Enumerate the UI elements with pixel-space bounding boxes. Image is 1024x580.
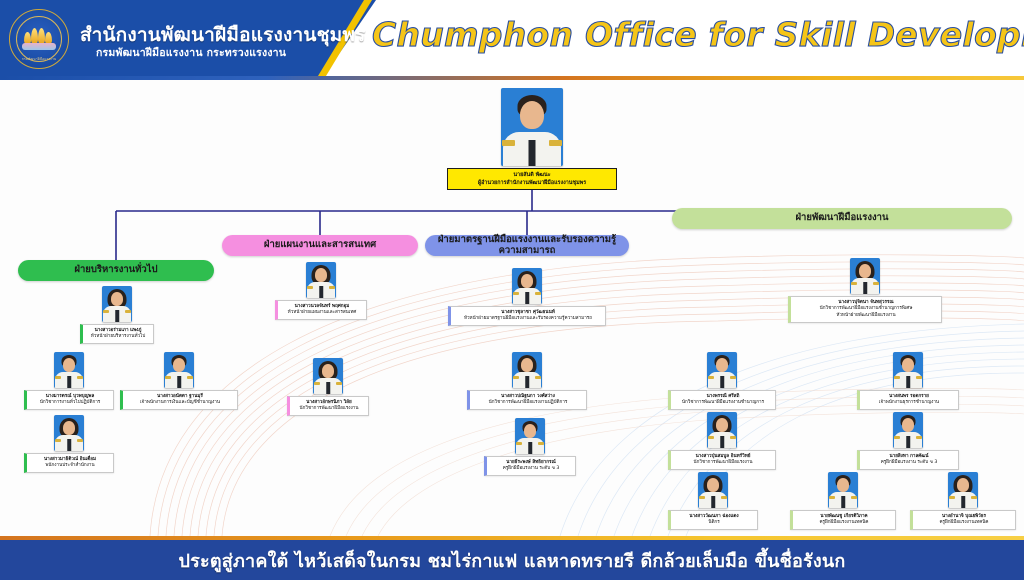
person-position-2: หัวหน้าฝ่ายพัฒนาฝีมือแรงงาน [794, 313, 938, 320]
person-node[interactable]: นางสาวชุลาชา ศุวัฒธนนท์ หัวหน้าฝ่ายมาตรฐ… [448, 268, 606, 326]
person-photo [948, 472, 978, 508]
director-node[interactable] [497, 88, 567, 166]
person-label: นางสาวอนัตตา ฐานมุรี เจ้าพนักงานการเงินแ… [120, 390, 238, 410]
person-photo [707, 412, 737, 448]
page-title-en: Chumphon Office for Skill Development [372, 15, 1022, 54]
person-label: นางมารตรณ์ บุวพบุญพล นักวิชาการงานทั่วไป… [24, 390, 114, 410]
dept-header-development[interactable]: ฝ่ายพัฒนาฝีมือแรงงาน [672, 208, 1012, 229]
person-label: นายธีระพงษ์ สิทธิยากรณ์ ครูฝึกฝีมือแรงงา… [484, 456, 576, 476]
person-label: นางสาวนวลจันทร์ พฤศกอุม หัวหน้าฝ่ายแผนงา… [275, 300, 367, 320]
person-position: หัวหน้าฝ่ายบริหารงานทั่วไป [86, 334, 150, 341]
person-node[interactable]: นางสาวมาธิติวณ์ อินเตื่อม พนักงานประจำสำ… [24, 415, 114, 473]
director-label: นายสันติ พัฒนะ ผู้อำนวยการสำนักงานพัฒนาฝ… [447, 168, 617, 190]
person-label: นายสิงหา กาลศัฒน์ ครูฝึกฝีมือแรงงาน ระดั… [857, 450, 959, 470]
person-node[interactable]: นางสนพร รอดกราย เจ้าพนักงานธุรการชำนาญงา… [857, 352, 959, 410]
person-photo [512, 352, 542, 388]
person-label: นางอำนาจิ บุณยพิวัธร ครูฝึกฝีมือแรงงานเท… [910, 510, 1016, 530]
director-photo [501, 88, 563, 166]
person-photo [54, 352, 84, 388]
person-photo [512, 268, 542, 304]
person-photo [893, 412, 923, 448]
person-node[interactable]: นางสาววัฒนภา ฉ่องแดง นิติกร [668, 472, 758, 530]
director-name: นายสันติ พัฒนะ [513, 172, 550, 178]
person-position: นิติกร [674, 520, 754, 527]
person-photo [102, 286, 132, 322]
person-position: นักวิชาการพัฒนาฝีมือแรงงานปฏิบัติการ [473, 400, 583, 407]
person-label: นางสาววัฒนภา ฉ่องแดง นิติกร [668, 510, 758, 530]
person-position: พนักงานประจำสำนักงาน [30, 463, 110, 470]
person-photo [515, 418, 545, 454]
person-position: นักวิชาการงานทั่วไปปฏิบัติการ [30, 400, 110, 407]
person-position: ครูฝึกฝีมือแรงงาน ระดับ ฃ 3 [490, 466, 572, 473]
director-position: ผู้อำนวยการสำนักงานพัฒนาฝีมือแรงงานชุมพร [478, 180, 586, 186]
logo-ribbon-text: กรมพัฒนาฝีมือแรงงาน [14, 57, 64, 65]
person-photo [313, 358, 343, 394]
footer-slogan: ประตูสู่ภาคใต้ ไหว้เสด็จในกรม ชมไร่กาแฟ … [179, 546, 846, 575]
org-chart-page: กรมพัฒนาฝีมือแรงงาน สำนักงานพัฒนาฝีมือแร… [0, 0, 1024, 580]
person-label: นางสาวปุจิตนา จันทสุวรรณ นักวิชาการพัฒนา… [788, 296, 942, 323]
person-photo [306, 262, 336, 298]
person-label: นางสาวอร่ามเภา แพงภู่ หัวหน้าฝ่ายบริหารง… [80, 324, 154, 344]
person-node[interactable]: นางสาวปุจิตนา จันทสุวรรณ นักวิชาการพัฒนา… [788, 258, 942, 323]
person-position: หัวหน้าฝ่ายแผนงานและสารสนเทศ [281, 310, 363, 317]
person-photo [54, 415, 84, 451]
person-label: นางสาวอักษรนิภา วิลัย นักวิชาการพัฒนาฝีม… [287, 396, 369, 416]
person-node[interactable]: นางสาวอักษรนิภา วิลัย นักวิชาการพัฒนาฝีม… [287, 358, 369, 416]
page-header: กรมพัฒนาฝีมือแรงงาน สำนักงานพัฒนาฝีมือแร… [0, 0, 1024, 76]
dept-header-standard[interactable]: ฝ่ายมาตรฐานฝีมือแรงงานและรับรองความรู้คว… [425, 235, 629, 256]
dept-header-admin[interactable]: ฝ่ายบริหารงานทั่วไป [18, 260, 214, 281]
person-photo [828, 472, 858, 508]
person-position: เจ้าพนักงานการเงินและบัญชีชำนาญงาน [126, 400, 234, 407]
person-node[interactable]: นางอำนาจิ บุณยพิวัธร ครูฝึกฝีมือแรงงานเท… [910, 472, 1016, 530]
person-position: นักวิชาการพัฒนาฝีมือแรงงานชำนาญการพิเศษ [794, 306, 938, 313]
person-label: นางสนพร รอดกราย เจ้าพนักงานธุรการชำนาญงา… [857, 390, 959, 410]
person-photo [164, 352, 194, 388]
person-node[interactable]: นายพัฒนชู เกียรติวิภาค ครูฝึกฝีมือแรงงาน… [790, 472, 896, 530]
person-node[interactable]: นางสาวนวลจันทร์ พฤศกอุม หัวหน้าฝ่ายแผนงา… [275, 262, 367, 320]
page-footer: ประตูสู่ภาคใต้ ไหว้เสด็จในกรม ชมไร่กาแฟ … [0, 540, 1024, 580]
person-label: นายพัฒนชู เกียรติวิภาค ครูฝึกฝีมือแรงงาน… [790, 510, 896, 530]
person-node[interactable]: นายสิงหา กาลศัฒน์ ครูฝึกฝีมือแรงงาน ระดั… [857, 412, 959, 470]
person-photo [698, 472, 728, 508]
person-node[interactable]: นางสาวอนัตตา ฐานมุรี เจ้าพนักงานการเงินแ… [120, 352, 238, 410]
person-node[interactable]: นางสาวอร่ามเภา แพงภู่ หัวหน้าฝ่ายบริหารง… [80, 286, 154, 344]
person-position: ครูฝึกฝีมือแรงงานเทคนิค [796, 520, 892, 527]
person-position: หัวหน้าฝ่ายมาตรฐานฝีมือแรงงานและรับรองคว… [454, 316, 602, 323]
dept-header-plan[interactable]: ฝ่ายแผนงานและสารสนเทศ [222, 235, 418, 256]
person-node[interactable]: นางมารตรณ์ บุวพบุญพล นักวิชาการงานทั่วไป… [24, 352, 114, 410]
person-photo [893, 352, 923, 388]
person-photo [850, 258, 880, 294]
person-photo [707, 352, 737, 388]
person-node[interactable]: นางพรรณี ศรีสถิ นักวิชาการพัฒนาฝีมือแรงง… [668, 352, 776, 410]
person-position: นักวิชาการพัฒนาฝีมือแรงงาน [293, 406, 365, 413]
person-node[interactable]: นายธีระพงษ์ สิทธิยากรณ์ ครูฝึกฝีมือแรงงา… [484, 418, 576, 476]
person-label: นางสาวปณิฐนกา วงศ์สว่าง นักวิชาการพัฒนาฝ… [467, 390, 587, 410]
person-label: นางสาวปุ่นสมบูล อินทร์วิทย์ นักวิชาการพั… [668, 450, 776, 470]
person-node[interactable]: นางสาวปุ่นสมบูล อินทร์วิทย์ นักวิชาการพั… [668, 412, 776, 470]
person-position: นักวิชาการพัฒนาฝีมือแรงงาน [674, 460, 772, 467]
person-node[interactable]: นางสาวปณิฐนกา วงศ์สว่าง นักวิชาการพัฒนาฝ… [467, 352, 587, 410]
person-position: นักวิชาการพัฒนาฝีมือแรงงานชำนาญการ [674, 400, 772, 407]
person-label: นางสาวชุลาชา ศุวัฒธนนท์ หัวหน้าฝ่ายมาตรฐ… [448, 306, 606, 326]
person-label: นางพรรณี ศรีสถิ นักวิชาการพัฒนาฝีมือแรงง… [668, 390, 776, 410]
department-logo-icon: กรมพัฒนาฝีมือแรงงาน [9, 9, 69, 69]
person-position: ครูฝึกฝีมือแรงงาน ระดับ ฃ 3 [863, 460, 955, 467]
person-label: นางสาวมาธิติวณ์ อินเตื่อม พนักงานประจำสำ… [24, 453, 114, 473]
person-position: ครูฝึกฝีมือแรงงานเทคนิค [916, 520, 1012, 527]
person-position: เจ้าพนักงานธุรการชำนาญงาน [863, 400, 955, 407]
org-subtitle-th: กรมพัฒนาฝีมือแรงงาน กระทรวงแรงงาน [96, 44, 286, 61]
